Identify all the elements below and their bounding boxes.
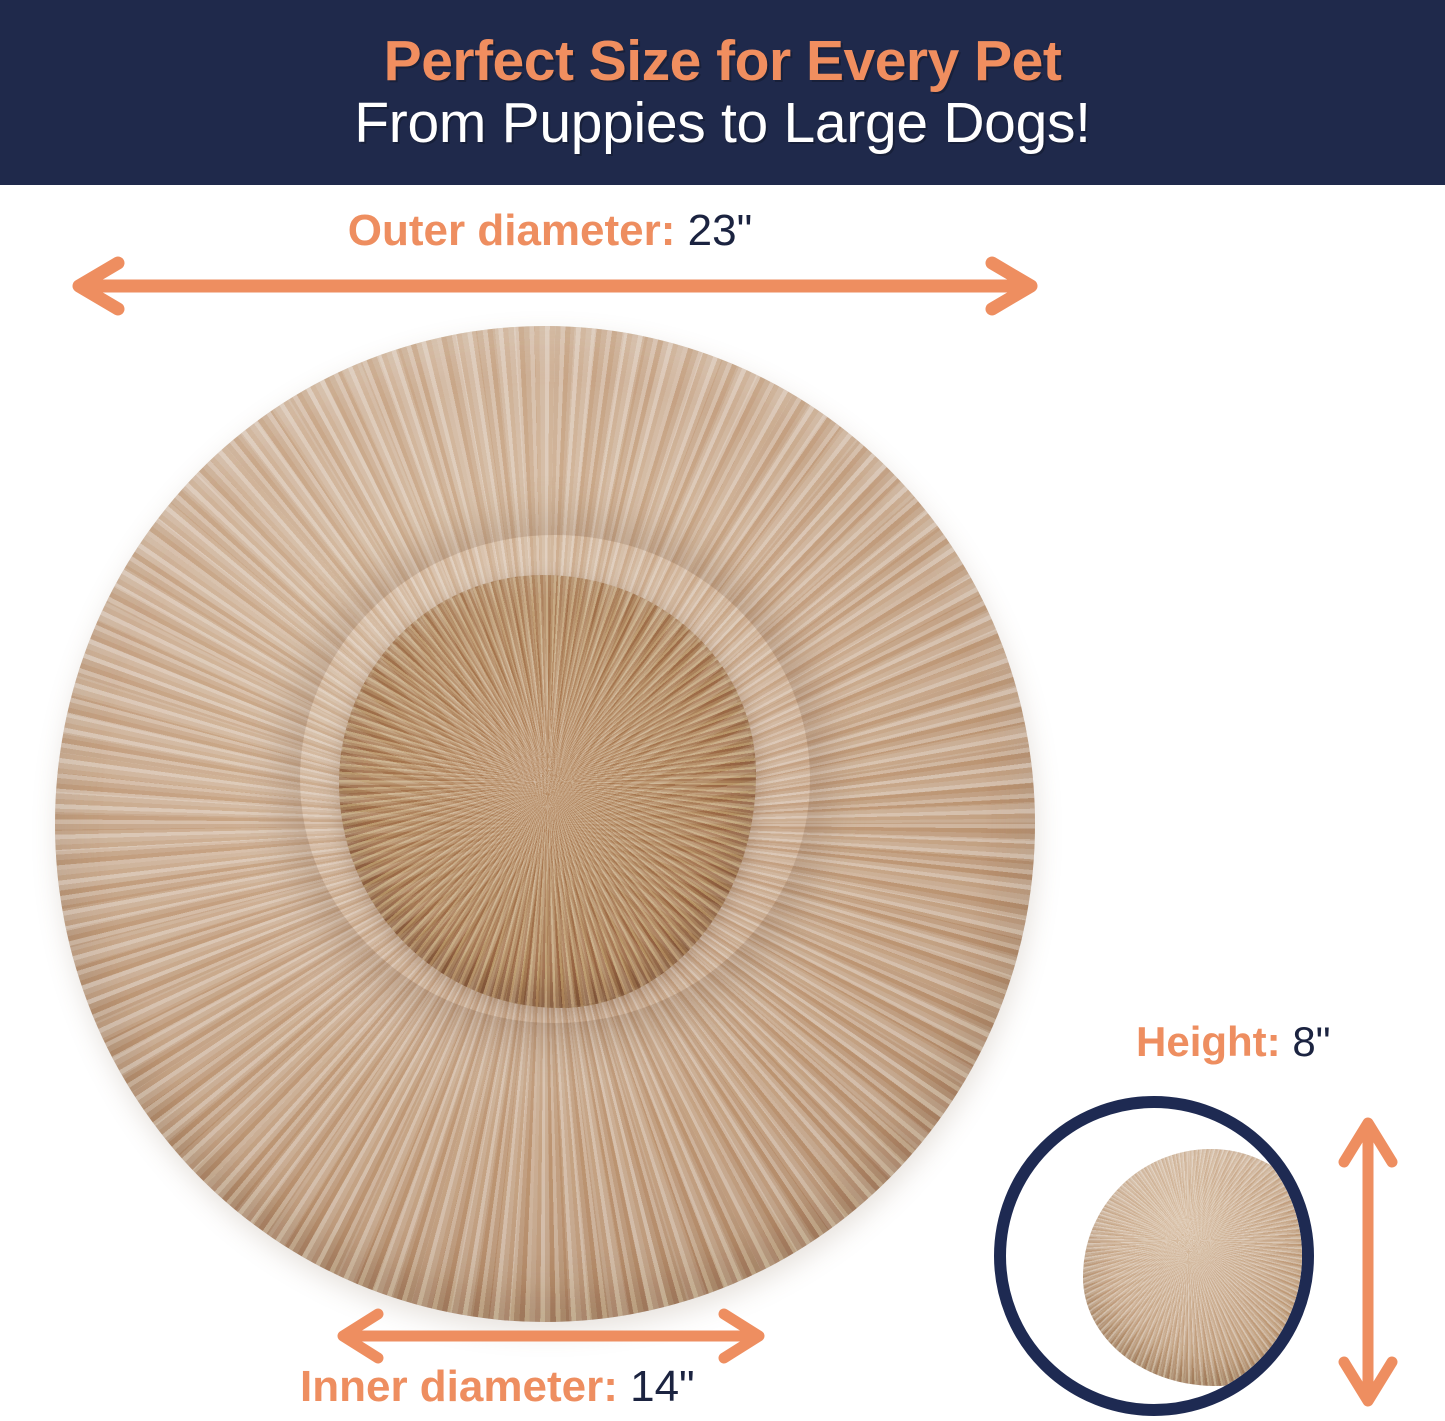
height-arrow-icon [1332,1108,1404,1416]
inner-diameter-label-text: Inner diameter: [300,1362,618,1411]
inner-diameter-value: 14" [630,1362,695,1411]
outer-diameter-label: Outer diameter: 23" [0,206,1100,256]
height-value: 8" [1292,1018,1330,1065]
pet-bed-side-view-inset [994,1096,1314,1416]
bed-outer-ring [55,326,1035,1322]
inner-diameter-arrow-icon [326,1308,776,1364]
height-label-text: Height: [1136,1018,1281,1065]
headline-primary: Perfect Size for Every Pet [384,32,1062,90]
header-banner: Perfect Size for Every Pet From Puppies … [0,0,1445,185]
outer-diameter-label-text: Outer diameter: [348,206,676,255]
outer-diameter-arrow-icon [60,258,1050,314]
pet-bed-side-view-image [1083,1149,1314,1386]
bed-inner-cushion [339,575,756,1008]
bed-rim-shadow [300,535,810,1023]
side-view-ring-border [994,1096,1314,1416]
pet-bed-top-view-image [55,326,1035,1322]
outer-diameter-value: 23" [688,206,753,255]
headline-secondary: From Puppies to Large Dogs! [354,94,1090,154]
height-label: Height: 8" [1136,1018,1331,1066]
inner-diameter-label: Inner diameter: 14" [300,1362,695,1412]
